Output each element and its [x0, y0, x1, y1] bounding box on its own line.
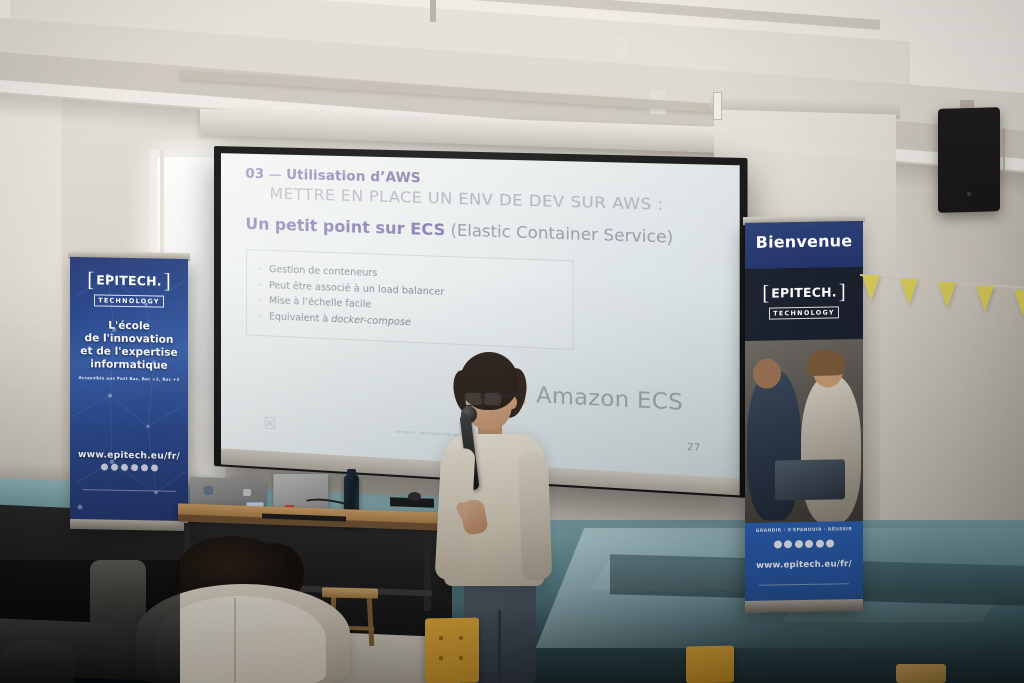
sidebar-item-banner-right: Bienvenue EPITECH. TECHNOLOGY GRANDIR · …: [745, 221, 863, 611]
social-icon: [141, 464, 148, 471]
epitech-logo-mark: EPITECH.: [87, 271, 170, 291]
audience-hood-seam: [234, 598, 236, 682]
epitech-logo-right: EPITECH. TECHNOLOGY: [745, 283, 863, 321]
social-icon: [816, 540, 824, 548]
laptop-sticker: [243, 489, 251, 496]
wall-speaker: [938, 107, 1000, 213]
speaker-driver-icon: [967, 192, 971, 196]
bunting-flag-icon: [976, 286, 994, 312]
social-icon: [795, 540, 803, 548]
banner-right-welcome-text: Bienvenue: [745, 231, 863, 252]
bullet-dash: -: [259, 311, 262, 322]
sidebar-item-banner-left: EPITECH. TECHNOLOGY L'école de l'innovat…: [70, 257, 188, 529]
bunting-flag-icon: [938, 282, 956, 308]
slide-bullet-list: -Gestion de conteneurs -Peut être associ…: [259, 262, 562, 337]
tagline-line: informatique: [76, 358, 182, 373]
desk-leg-right: [424, 527, 431, 611]
banner-left-tagline: L'école de l'innovation et de l'expertis…: [76, 319, 182, 373]
rollup-right-base: [745, 599, 863, 613]
social-icon: [784, 540, 792, 548]
presenter-arm-left: [518, 452, 552, 581]
presenter-leg-seam: [498, 610, 501, 683]
social-icon: [805, 540, 813, 548]
slide-page-number: 27: [687, 441, 700, 453]
photo-hair-right: [807, 349, 845, 376]
wall-hook-icon: [713, 92, 722, 120]
bullet-text: Gestion de conteneurs: [269, 264, 377, 279]
chair-hole: [459, 636, 463, 640]
bunting-flag-icon: [1014, 290, 1024, 316]
epitech-bracket-icon: EPITECH.: [87, 271, 170, 291]
chair-hole: [459, 656, 463, 660]
slide-bullet-box: -Gestion de conteneurs -Peut être associ…: [245, 249, 573, 350]
slide-corner-mark-icon: [265, 416, 275, 429]
banner-right-photo: [745, 339, 863, 523]
bunting-garland: [860, 268, 1024, 358]
epitech-logo-sub: TECHNOLOGY: [94, 294, 164, 307]
slide-kicker-text: Utilisation d’AWS: [286, 168, 421, 187]
epitech-logo-sub: TECHNOLOGY: [769, 306, 839, 319]
social-icon: [826, 539, 834, 547]
social-icon: [121, 464, 128, 471]
logo-word-ecs: ECS: [637, 387, 683, 415]
bullet-dash: -: [259, 264, 262, 275]
audience-hood-inner: [156, 596, 326, 683]
ceiling-bracket-2: [617, 36, 627, 63]
bullet-text: Equivalent à: [269, 311, 331, 325]
bullet-dash: -: [259, 279, 262, 290]
laptop-sticker: [203, 485, 213, 495]
chair-hole: [439, 656, 443, 660]
social-icon: [131, 464, 138, 471]
bullet-text: Mise à l’échelle facile: [269, 295, 371, 310]
social-icon: [101, 463, 108, 470]
slide-heading-rest: (Elastic Container Service): [445, 221, 673, 247]
banner-left-url: www.epitech.eu/fr/: [70, 449, 188, 462]
social-icon: [111, 464, 118, 471]
ceiling-bracket-1: [430, 0, 436, 22]
banner-right-url: www.epitech.eu/fr/: [745, 559, 863, 571]
chair-hole: [439, 636, 443, 640]
foreground-shadow: [0, 560, 180, 683]
presentation-room-photo: 03 — Utilisation d’AWS METTRE EN PLACE U…: [0, 0, 1024, 683]
chair-yellow: [686, 646, 734, 683]
epitech-logo-left: EPITECH. TECHNOLOGY: [70, 271, 188, 309]
chair-yellow: [896, 664, 946, 683]
wall-cable: [1003, 128, 1005, 182]
slide-heading: Un petit point sur ECS (Elastic Containe…: [245, 215, 717, 248]
epitech-logo-name: EPITECH.: [771, 284, 836, 300]
social-icon: [774, 540, 782, 548]
epitech-bracket-icon: EPITECH.: [762, 283, 845, 302]
epitech-logo-name: EPITECH.: [96, 272, 161, 288]
slide-kicker-number: 03: [245, 167, 264, 183]
slide-kicker-dash: —: [264, 168, 286, 184]
social-icon: [151, 464, 158, 471]
glasses-bridge-icon: [480, 396, 485, 398]
bullet-em: docker-compose: [331, 314, 411, 329]
bunting-flag-icon: [862, 275, 880, 301]
mouse: [408, 492, 421, 501]
chair-yellow: [425, 618, 479, 683]
bunting-flag-icon: [900, 279, 918, 305]
photo-student-right: [801, 375, 861, 523]
photo-laptop: [775, 459, 845, 500]
glasses-lens-left-icon: [464, 392, 483, 406]
bullet-dash: -: [259, 295, 262, 306]
slide-heading-bold: Un petit point sur ECS: [245, 215, 445, 240]
epitech-logo-mark: EPITECH.: [762, 283, 845, 302]
